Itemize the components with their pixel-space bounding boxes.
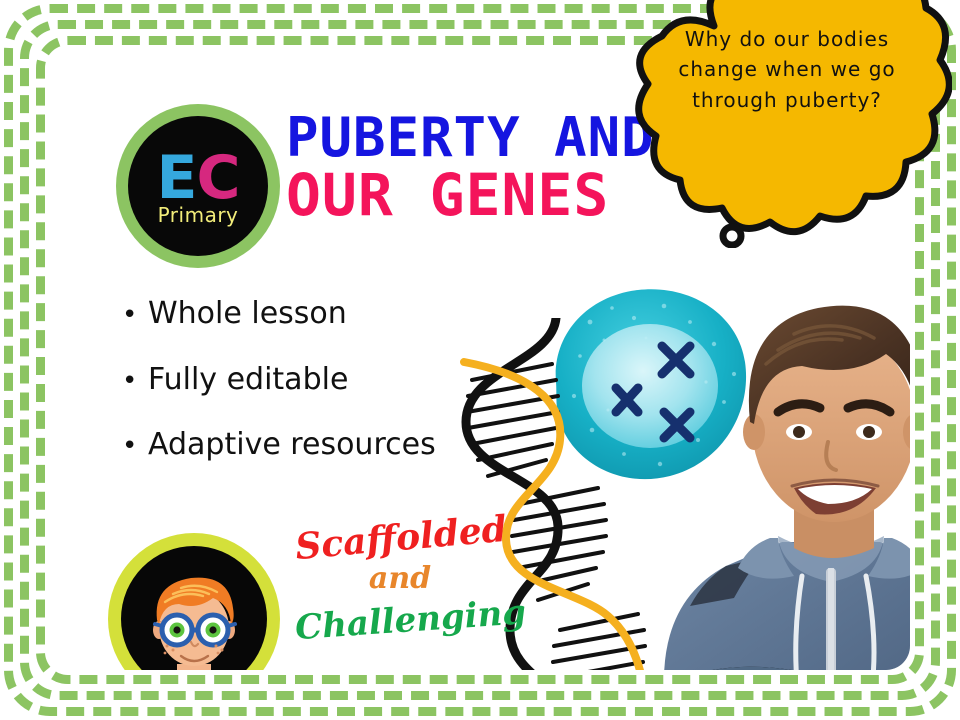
thought-bubble: Why do our bodies change when we go thro…: [622, 0, 952, 248]
thought-bubble-text: Why do our bodies change when we go thro…: [656, 24, 918, 115]
logo-letters: E C: [156, 151, 239, 206]
differentiation-word-and: and: [295, 564, 505, 594]
list-item: • Fully editable: [122, 364, 522, 396]
resource-cover: E C Primary PUBERTY AND OUR GENES • Whol…: [0, 0, 960, 720]
avatar: [108, 533, 280, 670]
bullet-icon: •: [122, 368, 148, 394]
list-item-label: Whole lesson: [148, 298, 347, 330]
avatar-disc: [121, 546, 267, 670]
ec-primary-logo: E C Primary: [116, 104, 280, 268]
list-item-label: Adaptive resources: [148, 429, 436, 461]
list-item-label: Fully editable: [148, 364, 348, 396]
student-photo: [642, 246, 910, 670]
differentiation-block: Scaffolded and Challenging: [295, 520, 505, 638]
logo-letter-c: C: [196, 151, 239, 206]
feature-list: • Whole lesson • Fully editable • Adapti…: [122, 298, 522, 495]
differentiation-word-scaffolded: Scaffolded: [294, 511, 506, 565]
differentiation-word-challenging: Challenging: [294, 597, 506, 646]
boy-face-icon: [121, 546, 267, 670]
list-item: • Adaptive resources: [122, 429, 522, 461]
list-item: • Whole lesson: [122, 298, 522, 330]
bullet-icon: •: [122, 302, 148, 328]
bullet-icon: •: [122, 433, 148, 459]
logo-subtitle: Primary: [158, 203, 239, 227]
logo-letter-e: E: [156, 151, 196, 206]
logo-disc: E C Primary: [128, 116, 268, 256]
